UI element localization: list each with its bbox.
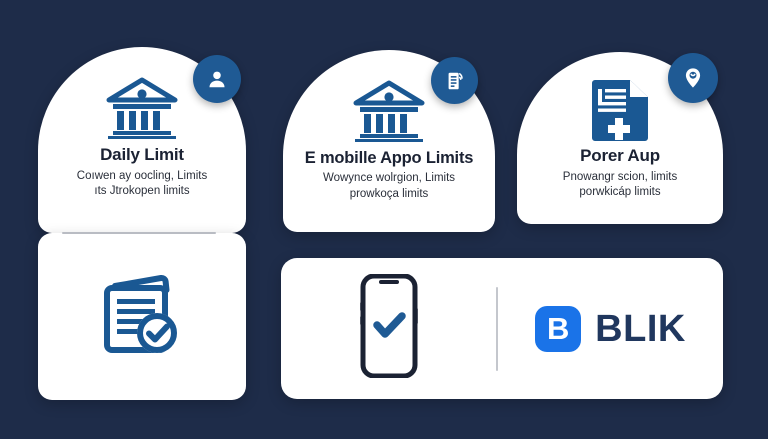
card-divider bbox=[62, 232, 216, 234]
card-subtitle-line2: porwkicáp limits bbox=[579, 186, 660, 198]
card-subtitle-line1: Wowynce wolrgion, Limits bbox=[323, 172, 455, 184]
document-signal-icon[interactable] bbox=[431, 57, 478, 104]
card-title: E mobille Appo Limits bbox=[305, 149, 473, 167]
card-subtitle-line1: Coıwen ay oocling, Limits bbox=[77, 170, 207, 182]
blik-wordmark: BLIK bbox=[595, 310, 686, 348]
bank-icon bbox=[352, 80, 426, 142]
card-subtitle-line2: prowkoça limits bbox=[350, 188, 429, 200]
card-subtitle: Coıwen ay oocling, Limits ıts Jtrokopen … bbox=[69, 169, 215, 200]
panel-blik-confirmation[interactable]: B BLIK bbox=[281, 258, 723, 399]
card-subtitle-line2: ıts Jtrokopen limits bbox=[94, 185, 189, 197]
documents-check-icon bbox=[95, 270, 189, 363]
blik-logo[interactable]: B BLIK bbox=[498, 306, 723, 352]
infographic-canvas: Daily Limit Coıwen ay oocling, Limits ıt… bbox=[0, 0, 768, 439]
map-pin-icon[interactable] bbox=[668, 53, 718, 103]
card-subtitle: Pnowangr scion, limits porwkicáp limits bbox=[555, 170, 685, 201]
card-title: Porer Aup bbox=[580, 147, 660, 166]
card-title: Daily Limit bbox=[100, 146, 184, 165]
panel-documents-verified[interactable] bbox=[38, 233, 246, 400]
document-plus-icon bbox=[590, 78, 650, 140]
bank-icon bbox=[105, 77, 179, 139]
phone-check-slot bbox=[281, 274, 496, 383]
card-subtitle-line1: Pnowangr scion, limits bbox=[563, 171, 677, 183]
phone-check-icon bbox=[359, 274, 419, 383]
card-subtitle: Wowynce wolrgion, Limits prowkoça limits bbox=[315, 171, 463, 202]
blik-mark: B bbox=[535, 306, 581, 352]
user-icon[interactable] bbox=[193, 55, 241, 103]
